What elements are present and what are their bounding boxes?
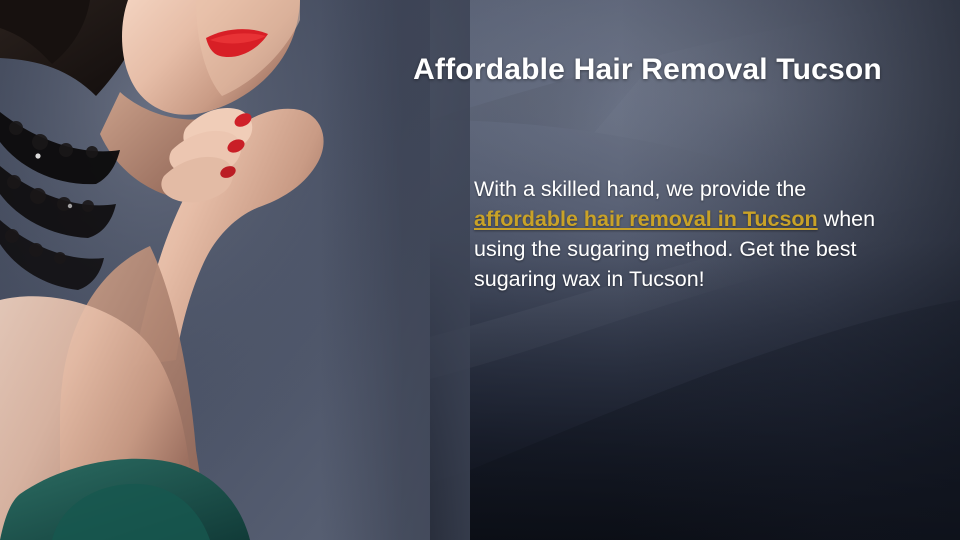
- body-text-part-1: With a skilled hand, we provide the: [474, 177, 806, 201]
- slide-body-text: With a skilled hand, we provide the affo…: [474, 174, 889, 294]
- affordable-hair-removal-link[interactable]: affordable hair removal in Tucson: [474, 207, 818, 231]
- page-title: Affordable Hair Removal Tucson: [360, 52, 935, 88]
- slide: Affordable Hair Removal Tucson With a sk…: [0, 0, 960, 540]
